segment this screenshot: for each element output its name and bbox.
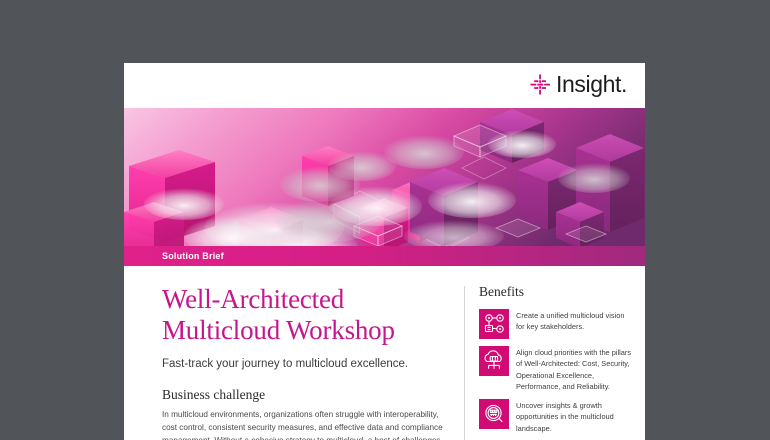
insight-magnifier-icon	[479, 399, 509, 429]
benefits-column: Benefits	[465, 284, 645, 440]
solution-brief-page: Insight.	[124, 63, 645, 440]
benefit-item: Uncover insights & growth opportunities …	[479, 399, 635, 434]
benefit-text: Align cloud priorities with the pillars …	[516, 346, 635, 392]
main-column: Well-Architected Multicloud Workshop Fas…	[124, 284, 464, 440]
benefit-text: Uncover insights & growth opportunities …	[516, 399, 635, 434]
insight-logo-text: Insight.	[556, 73, 627, 96]
page-subtitle: Fast-track your journey to multicloud ex…	[162, 358, 450, 370]
benefits-heading: Benefits	[479, 284, 635, 300]
page-header: Insight.	[124, 63, 645, 108]
insight-logo-mark-icon	[530, 74, 551, 95]
benefit-text: Create a unified multicloud vision for k…	[516, 309, 635, 333]
hero-image: Solution Brief	[124, 108, 645, 266]
cloud-pillars-icon	[479, 346, 509, 376]
hero-city-illustration	[124, 108, 645, 266]
business-challenge-heading: Business challenge	[162, 387, 450, 403]
benefit-item: Align cloud priorities with the pillars …	[479, 346, 635, 392]
solution-brief-badge: Solution Brief	[124, 246, 645, 266]
insight-logo: Insight.	[530, 73, 627, 96]
page-title-line1: Well-Architected	[162, 284, 344, 314]
benefit-item: Create a unified multicloud vision for k…	[479, 309, 635, 339]
business-challenge-body: In multicloud environments, organization…	[162, 408, 450, 440]
stakeholder-network-icon	[479, 309, 509, 339]
page-content: Well-Architected Multicloud Workshop Fas…	[124, 266, 645, 440]
page-title: Well-Architected Multicloud Workshop	[162, 284, 450, 347]
screenshot-viewport: Insight.	[0, 0, 770, 440]
solution-brief-badge-label: Solution Brief	[124, 251, 224, 261]
page-title-line2: Multicloud Workshop	[162, 315, 395, 345]
